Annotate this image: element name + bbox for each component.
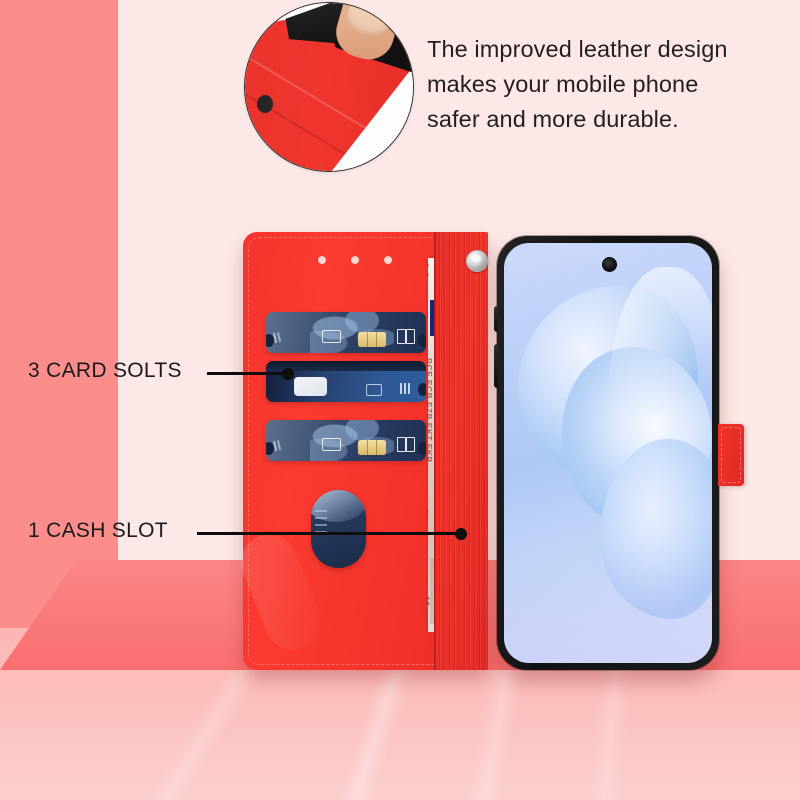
wallet-perforation-dots: [318, 256, 396, 265]
logo-mark: [406, 329, 415, 344]
closeup-corner-bumper-icon: [257, 95, 273, 113]
perforation-dot: [351, 256, 359, 264]
card-emv-chip-icon: [358, 332, 386, 347]
card-hologram-icon: [322, 438, 341, 451]
product-feature-image: The improved leather design makes your m…: [0, 0, 800, 800]
perforation-dot: [384, 256, 392, 264]
spine-fold-edge: [434, 232, 436, 670]
closeup-leather-crease-dark: [244, 81, 363, 165]
magnetic-closure-strap: [718, 424, 744, 486]
front-camera-icon: [602, 257, 617, 272]
card-notch-right: [418, 334, 426, 347]
wallpaper-bottom-tint: [504, 543, 712, 663]
phone-screen: [504, 243, 712, 663]
card-bar-marks-icon: [397, 383, 410, 394]
annotation-label-cash-slot: 1 CASH SLOT: [28, 519, 168, 543]
wallet-case-body: 10 BCE ECB EZB EKT EKP 10 10: [243, 232, 488, 670]
annotation-label-card-slots: 3 CARD SOLTS: [28, 359, 182, 383]
logo-mark: [406, 437, 415, 452]
banknote-footer-value: 10: [428, 596, 431, 606]
phone-volume-button: [494, 306, 498, 332]
cash-pocket-thumb-notch: [311, 490, 366, 568]
card-white-label: [294, 377, 327, 396]
card-emv-chip-icon: [358, 440, 386, 455]
phone-power-button: [494, 344, 498, 388]
card-contactless-icon: [273, 331, 287, 343]
magnetic-snap-button: [466, 250, 488, 272]
wallet-ribbed-spine: [434, 232, 488, 670]
card-hologram-icon: [322, 330, 341, 343]
card-brand-logo-icon: [397, 329, 415, 342]
card-brand-logo-icon: [397, 437, 415, 450]
card-notch-right: [418, 442, 426, 455]
logo-mark: [397, 329, 406, 344]
annotation-leader-line-cash-slot: [197, 532, 463, 535]
card-slot-bottom: [266, 420, 426, 461]
strap-stitching: [721, 427, 741, 483]
card-notch-left: [266, 383, 274, 396]
card-notch-left: [266, 334, 274, 347]
card-mini-box-icon: [366, 384, 382, 396]
annotation-leader-dot-cash-slot: [455, 528, 467, 540]
card-slot-middle: [266, 361, 426, 402]
closeup-leather-crease-light: [244, 45, 384, 139]
annotation-leader-dot-card-slots: [282, 368, 294, 380]
card-notch-right: [418, 383, 426, 396]
card-contactless-icon: [273, 439, 287, 451]
perforation-dot: [318, 256, 326, 264]
annotation-leader-line-card-slots: [207, 372, 289, 375]
leather-flex-closeup-circle: [244, 2, 414, 172]
card-notch-left: [266, 442, 274, 455]
logo-mark: [397, 437, 406, 452]
smartphone: [497, 236, 719, 670]
card-slot-top: [266, 312, 426, 353]
headline-text: The improved leather design makes your m…: [427, 32, 757, 137]
banknote-denomination-top: 10: [428, 260, 431, 279]
